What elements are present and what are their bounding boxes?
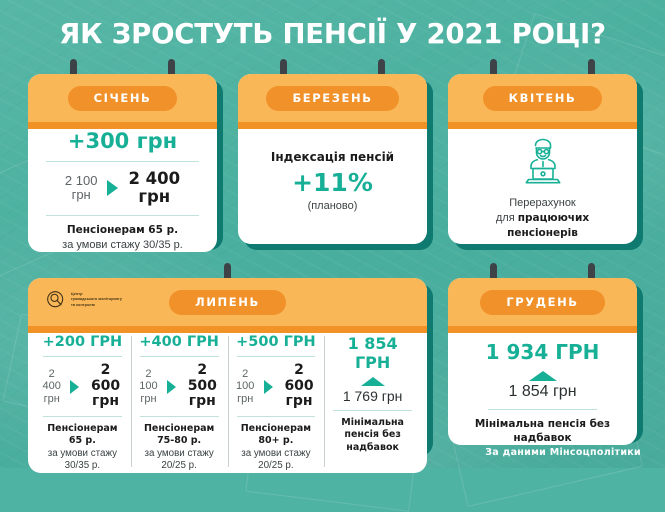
card-header-july: Центр громадського моніторингу та контро…: [28, 278, 427, 326]
eligibility-bold: Пенсіонерам 80+ р.: [233, 423, 320, 448]
april-line-3-bold: пенсіонерів: [507, 227, 578, 239]
divider: [43, 416, 122, 417]
new-value: 2 600 грн: [279, 363, 319, 410]
indexation-status: (планово): [238, 200, 427, 212]
month-card-march: БЕРЕЗЕНЬ Індексація пенсій +11% (планово…: [238, 74, 427, 244]
new-value: 2 600 грн: [85, 363, 125, 410]
divider: [140, 356, 219, 357]
july-column-3: +500 ГРН 2 100 грн 2 600 грн Пенсіонерам…: [228, 334, 325, 473]
increase-amount: +400 ГРН: [136, 334, 223, 350]
divider: [140, 416, 219, 417]
organization-logo: Центр громадського моніторингу та контро…: [46, 290, 122, 310]
source-credit: За даними Мінсоцполітики: [485, 447, 641, 458]
month-label-january: СІЧЕНЬ: [68, 86, 178, 111]
card-header-march: БЕРЕЗЕНЬ: [238, 74, 427, 122]
card-body-january: +300 грн 2 100 грн 2 400 грн Пенсіонерам…: [28, 122, 217, 252]
july-column-2: +400 ГРН 2 100 грн 2 500 грн Пенсіонерам…: [131, 334, 228, 473]
card-header-december: ГРУДЕНЬ: [448, 278, 637, 326]
april-line-1: Перерахунок: [509, 197, 576, 209]
july-column-1: +200 ГРН 2 400 грн 2 600 грн Пенсіонерам…: [34, 334, 131, 473]
card-header-april: КВІТЕНЬ: [448, 74, 637, 122]
indexation-label: Індексація пенсій: [238, 150, 427, 164]
magnifier-circle-icon: [46, 290, 66, 310]
new-value: 2 500 грн: [182, 363, 222, 410]
eligibility-bold: Пенсіонерам 75-80 р.: [136, 423, 223, 448]
card-body-december: 1 934 ГРН 1 854 грн Мінімальна пенсія бе…: [448, 326, 637, 445]
july-minimum-pension-column: 1 854 ГРН 1 769 грн Мінімальна пенсія бе…: [324, 334, 421, 473]
arrow-up-icon: [361, 377, 385, 386]
month-card-december: ГРУДЕНЬ 1 934 ГРН 1 854 грн Мінімальна п…: [448, 278, 637, 437]
eligibility-detail-january: за умови стажу 30/35 р.: [28, 238, 217, 252]
divider: [46, 215, 199, 216]
eligibility-detail: за умови стажу 20/25 р.: [233, 448, 320, 473]
month-card-july: Центр громадського моніторингу та контро…: [28, 278, 427, 450]
divider: [333, 410, 412, 411]
month-card-january: СІЧЕНЬ +300 грн 2 100 грн 2 400 грн Пенс…: [28, 74, 217, 244]
april-line-2-bold: працюючих: [518, 212, 589, 224]
logo-text: Центр громадського моніторингу та контро…: [71, 292, 122, 308]
april-description: Перерахунок для працюючих пенсіонерів: [448, 196, 637, 241]
increase-amount-january: +300 грн: [28, 129, 217, 153]
card-body-march: Індексація пенсій +11% (планово): [238, 122, 427, 212]
divider: [488, 409, 597, 410]
eligibility-detail: за умови стажу 20/25 р.: [136, 448, 223, 473]
minimum-pension-new-december: 1 934 ГРН: [448, 340, 637, 364]
value-transition-january: 2 100 грн 2 400 грн: [28, 170, 217, 207]
divider: [43, 356, 122, 357]
card-body-july: +200 ГРН 2 400 грн 2 600 грн Пенсіонерам…: [28, 326, 427, 473]
old-value: 2 100 грн: [233, 368, 258, 406]
month-label-march: БЕРЕЗЕНЬ: [266, 86, 398, 111]
arrow-right-icon: [70, 380, 79, 394]
month-label-december: ГРУДЕНЬ: [480, 290, 604, 315]
minimum-pension-note: Мінімальна пенсія без надбавок: [329, 417, 416, 454]
indexation-percent: +11%: [238, 168, 427, 197]
value-transition: 2 100 грн 2 500 грн: [136, 363, 223, 410]
arrow-up-icon: [529, 371, 557, 381]
divider: [46, 161, 199, 162]
old-value: 2 400 грн: [39, 368, 64, 406]
divider: [237, 416, 316, 417]
card-header-january: СІЧЕНЬ: [28, 74, 217, 122]
minimum-pension-note-december: Мінімальна пенсія без надбавок: [448, 418, 637, 445]
minimum-pension-previous-december: 1 854 грн: [448, 383, 637, 401]
arrow-right-icon: [264, 380, 273, 394]
divider: [237, 356, 316, 357]
minimum-pension-new: 1 854 ГРН: [329, 334, 416, 372]
increase-amount: +500 ГРН: [233, 334, 320, 350]
page-title: ЯК ЗРОСТУТЬ ПЕНСІЇ У 2021 РОЦІ?: [0, 18, 665, 50]
pensioner-at-laptop-icon: [448, 132, 637, 190]
old-value: 2 100 грн: [136, 368, 161, 406]
new-value-january: 2 400 грн: [128, 170, 180, 207]
eligibility-detail: за умови стажу 30/35 р.: [39, 448, 126, 473]
eligibility-bold: Пенсіонерам 65 р.: [39, 423, 126, 448]
month-label-april: КВІТЕНЬ: [483, 86, 603, 111]
april-line-2-prefix: для: [496, 212, 518, 224]
month-label-july: ЛИПЕНЬ: [169, 290, 286, 315]
month-card-april: КВІТЕНЬ Перерахунок для працюючих пенсі: [448, 74, 637, 244]
card-body-april: Перерахунок для працюючих пенсіонерів: [448, 122, 637, 241]
arrow-right-icon: [167, 380, 176, 394]
old-value-january: 2 100 грн: [65, 174, 98, 204]
value-transition: 2 400 грн 2 600 грн: [39, 363, 126, 410]
arrow-right-icon: [107, 180, 118, 196]
eligibility-bold-january: Пенсіонерам 65 р.: [28, 224, 217, 238]
value-transition: 2 100 грн 2 600 грн: [233, 363, 320, 410]
minimum-pension-previous: 1 769 грн: [329, 388, 416, 404]
increase-amount: +200 ГРН: [39, 334, 126, 350]
